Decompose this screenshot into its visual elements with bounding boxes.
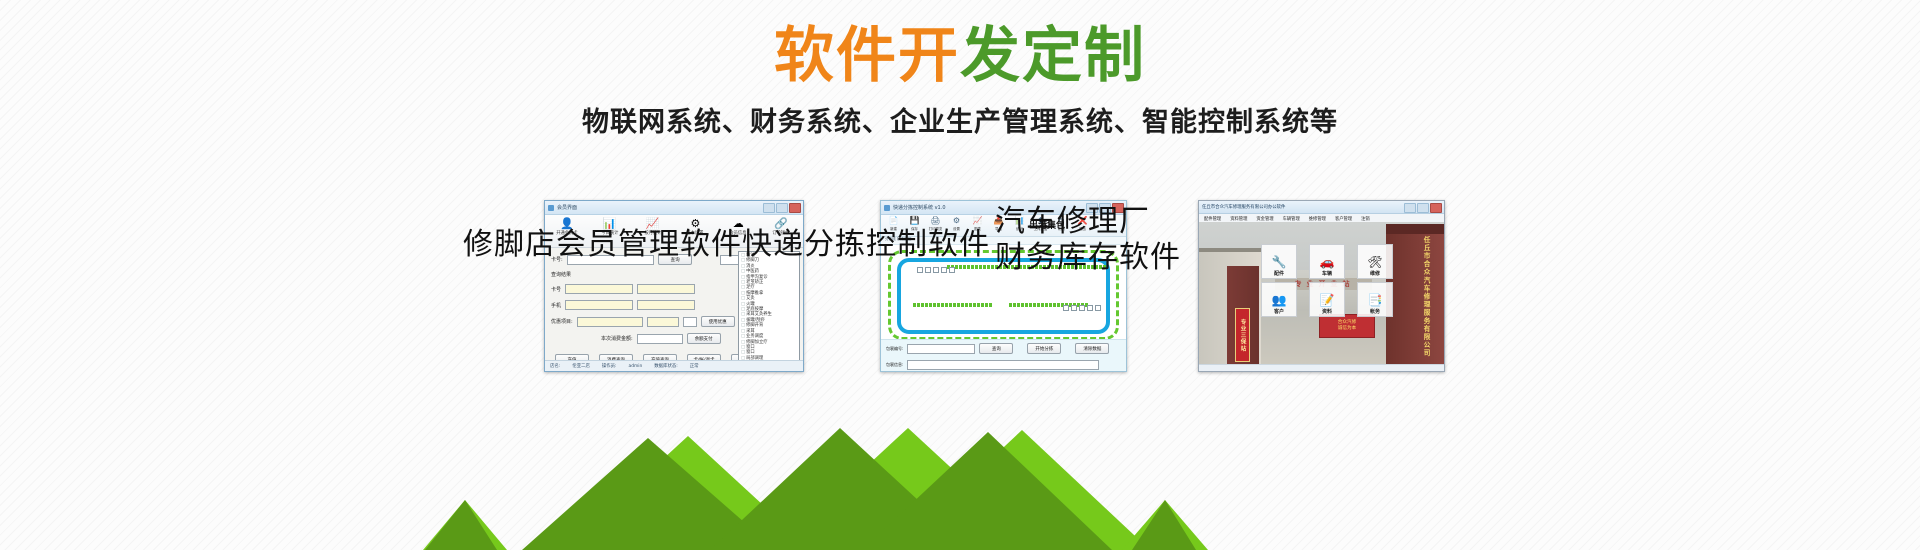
ledger-icon: 📑 bbox=[1368, 292, 1383, 308]
close-icon[interactable] bbox=[1430, 203, 1442, 213]
desktop-icon-customer[interactable]: 👥 客户 bbox=[1261, 282, 1297, 317]
desktop-icon-label: 配件 bbox=[1274, 270, 1284, 277]
checkbox-icon[interactable] bbox=[1063, 305, 1069, 311]
shot3-window-title: 任丘市合众汽车修理服务有限公司办公软件 bbox=[1202, 204, 1285, 210]
desktop-icon-ledger[interactable]: 📑 帐务 bbox=[1357, 282, 1393, 317]
window-controls[interactable] bbox=[763, 203, 801, 213]
desktop-icon-label: 资料 bbox=[1322, 308, 1332, 315]
shop-photo-background: 专业开业站 专业三保站 任丘市合众汽车修理服务有限公司 合众汽修 诚信为本 🔧 … bbox=[1199, 222, 1444, 365]
checkbox-icon[interactable] bbox=[1071, 305, 1077, 311]
desktop-icon-label: 维修 bbox=[1370, 270, 1380, 277]
checkbox-icon[interactable] bbox=[933, 267, 939, 273]
window-controls[interactable] bbox=[1404, 203, 1442, 213]
discount-input-3[interactable] bbox=[683, 317, 697, 327]
clear-data-button[interactable]: 清除数据 bbox=[1075, 343, 1109, 354]
checkbox-icon[interactable] bbox=[1095, 305, 1101, 311]
phone-label: 手机 bbox=[551, 302, 561, 309]
discount-input-2[interactable] bbox=[647, 317, 679, 327]
headline-segment-orange: 软件开 bbox=[774, 21, 960, 91]
maximize-icon[interactable] bbox=[1417, 203, 1429, 213]
sorting-checkbox-row-top[interactable] bbox=[917, 267, 955, 273]
page-title: 软件开发定制 bbox=[0, 26, 1920, 86]
shot3-statusbar bbox=[1199, 364, 1444, 371]
window-app-icon bbox=[884, 205, 890, 211]
shot2-window-title: 快递分拣控制系统 v1.0 bbox=[893, 204, 946, 211]
balance-pay-button[interactable]: 余额支付 bbox=[687, 333, 721, 344]
query-results-label: 查询结果 bbox=[551, 271, 571, 278]
screenshot-auto-repair[interactable]: 任丘市合众汽车修理服务有限公司办公软件 配件管理 资料管理 资金管理 车辆管理 … bbox=[1198, 200, 1445, 372]
phone-extra-input[interactable] bbox=[637, 300, 695, 310]
query-button[interactable]: 查询 bbox=[979, 343, 1013, 354]
parcel-info-label: 包裹信息: bbox=[886, 362, 903, 368]
wrench-icon: 🛠 bbox=[1367, 254, 1382, 270]
shot3-body: 任丘市合众汽车修理服务有限公司办公软件 配件管理 资料管理 资金管理 车辆管理 … bbox=[1199, 201, 1444, 371]
service-items-listbox[interactable]: 精油修脚刀消炎中医药指甲沟复诊老茧矫正足疗按摩推拿艾灸火罐足底按摩采耳艾灸养生拔… bbox=[738, 251, 800, 366]
status-operator-value: admin bbox=[629, 364, 643, 369]
photo-right-red-tower bbox=[1386, 224, 1444, 365]
discount-label: 优惠项目: bbox=[551, 318, 573, 325]
phone-input[interactable] bbox=[565, 300, 633, 310]
menu-funds[interactable]: 资金管理 bbox=[1256, 216, 1273, 222]
start-sorting-button[interactable]: 开始分拣 bbox=[1027, 343, 1061, 354]
status-store-value: 伦亚二店 bbox=[572, 363, 590, 369]
page-subtitle: 物联网系统、财务系统、企业生产管理系统、智能控制系统等 bbox=[0, 100, 1920, 139]
parts-icon: 🔧 bbox=[1272, 254, 1287, 270]
status-db-value: 正常 bbox=[690, 363, 699, 369]
desktop-icon-document[interactable]: 📝 资料 bbox=[1309, 282, 1345, 317]
card-label: 卡号 bbox=[551, 286, 561, 293]
mountain-dark-1 bbox=[425, 500, 497, 550]
parcel-info-input[interactable] bbox=[907, 360, 1099, 370]
headline-segment-green: 发定制 bbox=[960, 21, 1146, 91]
discount-input[interactable] bbox=[577, 317, 643, 327]
status-store-label: 店名: bbox=[550, 363, 560, 369]
form-row-parcel-info: 包裹信息: bbox=[886, 360, 1121, 370]
maximize-icon[interactable] bbox=[776, 203, 788, 213]
caption-autorepair: 汽车修理厂 财务库存软件 bbox=[995, 204, 1181, 276]
card-extra-input[interactable] bbox=[637, 284, 695, 294]
caption-pedicure: 修脚店会员管理软件 bbox=[463, 219, 742, 263]
shot1-statusbar: 店名: 伦亚二店 操作员: admin 数据库状态: 正常 bbox=[545, 360, 803, 371]
photo-red-vertical-sign: 专业三保站 bbox=[1235, 308, 1250, 362]
banner-line-2: 诚信为本 bbox=[1338, 326, 1356, 332]
photo-red-banner: 合众汽修 诚信为本 bbox=[1319, 314, 1375, 338]
sorting-checkbox-row-bottom[interactable] bbox=[1063, 305, 1101, 311]
caption-autorepair-line1: 汽车修理厂 bbox=[995, 204, 1181, 240]
close-icon[interactable] bbox=[789, 203, 801, 213]
desktop-icon-vehicle[interactable]: 🚗 车辆 bbox=[1309, 244, 1345, 279]
desktop-icon-label: 车辆 bbox=[1322, 270, 1332, 277]
status-db-label: 数据库状态: bbox=[654, 363, 677, 369]
minimize-icon[interactable] bbox=[1404, 203, 1416, 213]
customer-icon: 👥 bbox=[1272, 292, 1287, 308]
desktop-icon-parts[interactable]: 🔧 配件 bbox=[1261, 244, 1297, 279]
desktop-icon-repair[interactable]: 🛠 维修 bbox=[1357, 244, 1393, 279]
chip-group-bottom-left bbox=[913, 303, 992, 307]
shot2-lower-form: 包裹编号: 查询 开始分拣 清除数据 包裹信息: 保存数据 确定 取消 当前状态… bbox=[881, 339, 1126, 372]
card-value-input[interactable] bbox=[565, 284, 633, 294]
menu-repairs[interactable]: 维修管理 bbox=[1309, 216, 1326, 222]
desktop-icon-label: 帐务 bbox=[1370, 308, 1380, 315]
shot1-titlebar: 会员界面 bbox=[545, 201, 803, 215]
checkbox-icon[interactable] bbox=[1079, 305, 1085, 311]
minimize-icon[interactable] bbox=[763, 203, 775, 213]
parcel-no-label: 包裹编号: bbox=[886, 346, 903, 352]
menu-vehicles[interactable]: 车辆管理 bbox=[1283, 216, 1300, 222]
checkbox-icon[interactable] bbox=[925, 267, 931, 273]
document-icon: 📝 bbox=[1320, 292, 1335, 308]
caption-autorepair-line2: 财务库存软件 bbox=[995, 240, 1181, 276]
shot3-titlebar: 任丘市合众汽车修理服务有限公司办公软件 bbox=[1199, 201, 1444, 214]
status-operator-label: 操作员: bbox=[602, 363, 617, 369]
photo-company-vertical-sign: 任丘市合众汽车修理服务有限公司 bbox=[1422, 236, 1430, 358]
window-app-icon bbox=[548, 205, 554, 211]
parcel-no-input[interactable] bbox=[907, 344, 975, 354]
caption-express: 快递分拣控制软件 bbox=[742, 219, 990, 263]
checkbox-icon[interactable] bbox=[917, 267, 923, 273]
shot1-window-title: 会员界面 bbox=[557, 204, 577, 211]
headline-container: 软件开发定制 bbox=[0, 26, 1920, 86]
checkbox-icon[interactable] bbox=[949, 267, 955, 273]
total-input[interactable] bbox=[637, 334, 683, 344]
desktop-icon-label: 客户 bbox=[1274, 308, 1284, 315]
menu-materials[interactable]: 资料管理 bbox=[1230, 216, 1247, 222]
menu-customers[interactable]: 客户管理 bbox=[1335, 216, 1352, 222]
checkbox-icon[interactable] bbox=[941, 267, 947, 273]
total-label: 本次消费金额: bbox=[601, 335, 633, 342]
checkbox-icon[interactable] bbox=[1087, 305, 1093, 311]
shot1-form: 卡号: 查询 现金支付 查询结果 卡号 手机 优惠项目: bbox=[545, 248, 803, 372]
menu-parts[interactable]: 配件管理 bbox=[1204, 216, 1221, 222]
use-discount-button[interactable]: 使用优惠 bbox=[701, 316, 735, 327]
photo-right-tower-cap bbox=[1386, 224, 1444, 234]
menu-logout[interactable]: 注销 bbox=[1361, 216, 1370, 222]
car-icon: 🚗 bbox=[1320, 254, 1335, 270]
form-row-parcel-no: 包裹编号: 查询 开始分拣 清除数据 bbox=[886, 343, 1121, 354]
